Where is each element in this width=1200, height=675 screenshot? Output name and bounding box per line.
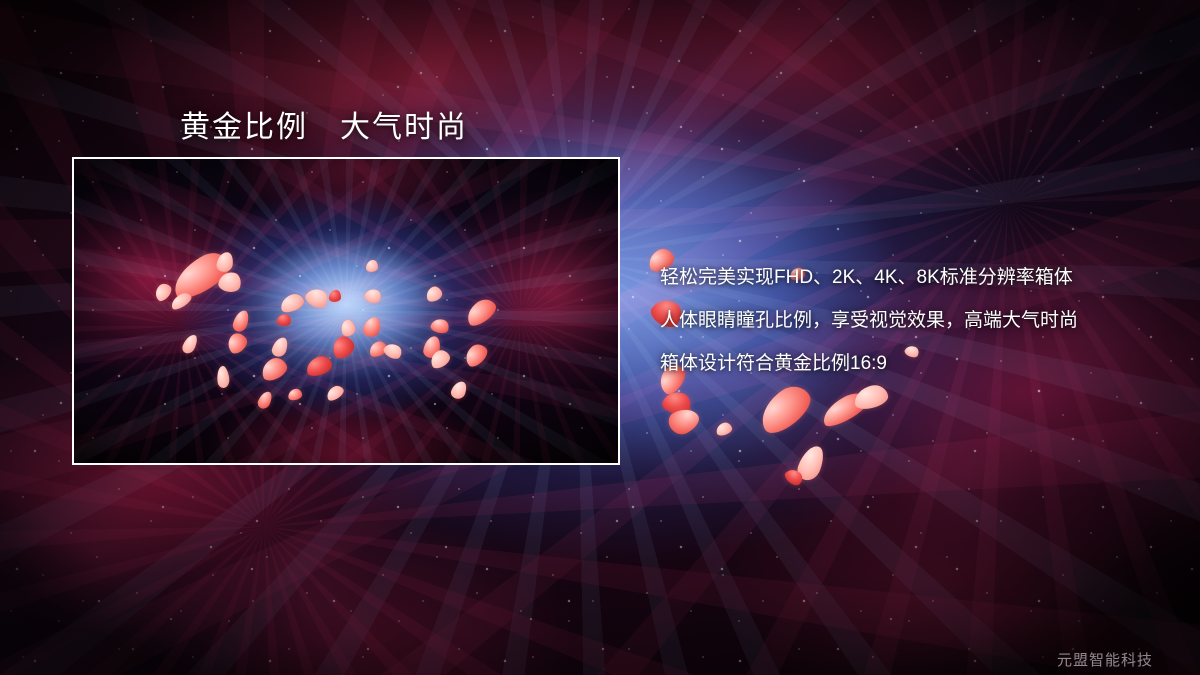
petal-decoration — [715, 421, 734, 437]
photo-image — [74, 159, 618, 463]
body-line-3: 箱体设计符合黄金比例16:9 — [660, 342, 1160, 385]
photo-petal — [366, 260, 378, 272]
petal-decoration — [852, 383, 890, 412]
photo-vignette — [74, 159, 618, 463]
page-title: 黄金比例 大气时尚 — [180, 102, 468, 146]
watermark: 元盟智能科技 — [1057, 649, 1153, 670]
body-line-2: 人体眼睛瞳孔比例，享受视觉效果，高端大气时尚 — [660, 299, 1160, 342]
body-copy: 轻松完美实现FHD、2K、4K、8K标准分辨率箱体 人体眼睛瞳孔比例，享受视觉效… — [660, 256, 1160, 385]
petal-decoration — [752, 379, 817, 439]
photo-petal — [329, 290, 341, 302]
body-line-1: 轻松完美实现FHD、2K、4K、8K标准分辨率箱体 — [660, 256, 1160, 299]
photo-frame — [72, 157, 620, 465]
presentation-slide: 黄金比例 大气时尚 轻松完美实现FHD、2K、4K、8K标准分辨率箱体 人体眼睛… — [0, 0, 1200, 675]
